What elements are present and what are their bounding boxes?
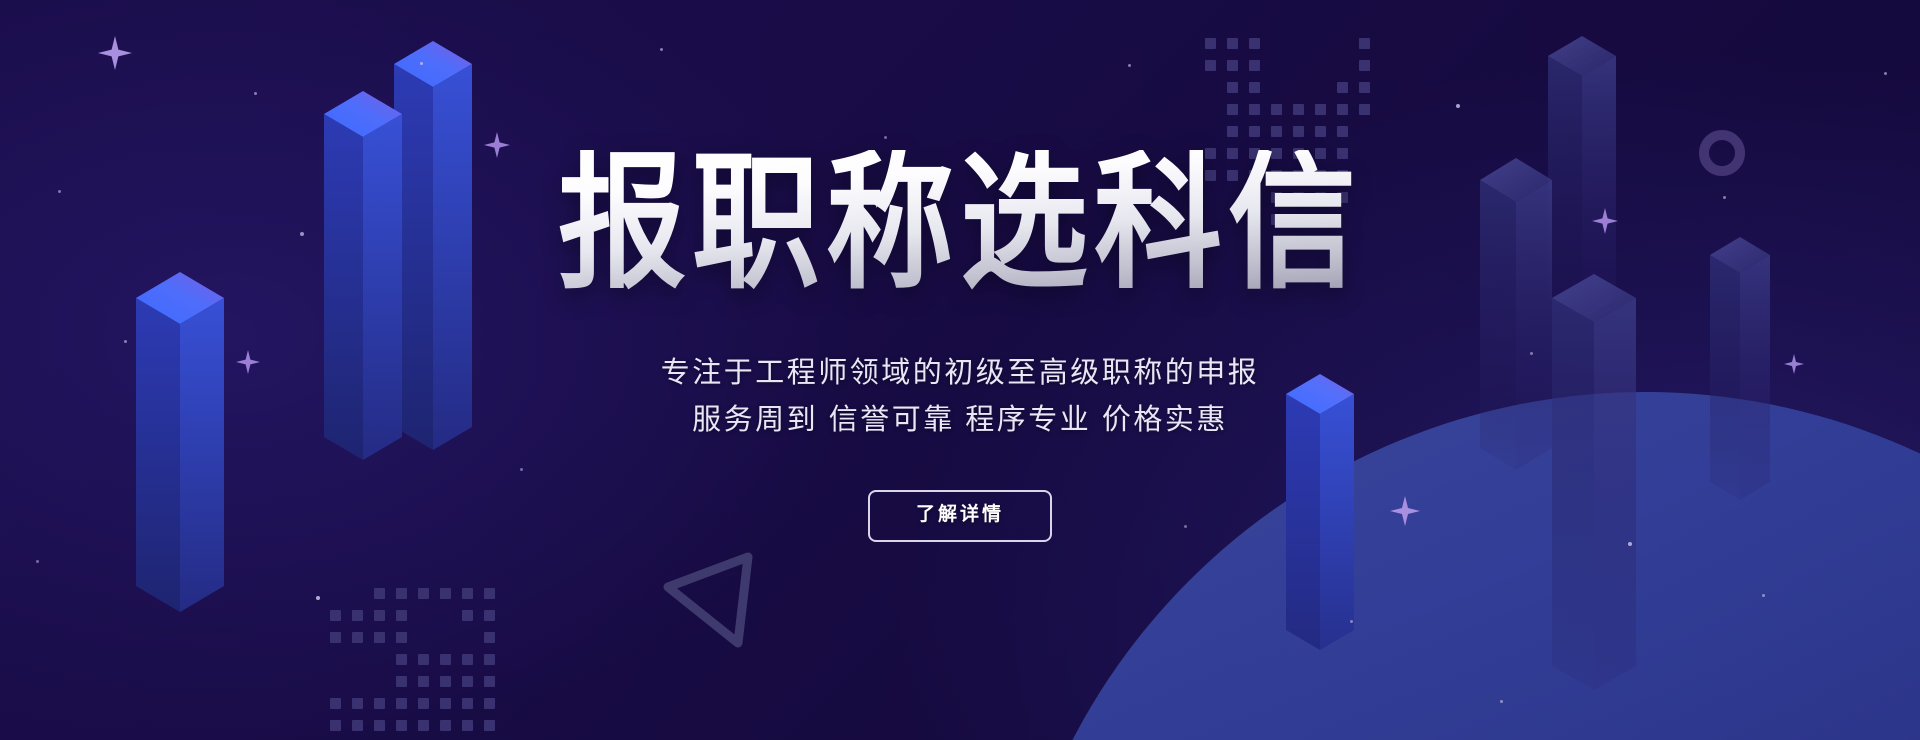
star-dot bbox=[1762, 594, 1765, 597]
star-dot bbox=[316, 596, 320, 600]
star-dot bbox=[1350, 620, 1353, 623]
banner-subtitle: 专注于工程师领域的初级至高级职称的申报 服务周到 信誉可靠 程序专业 价格实惠 bbox=[0, 350, 1920, 444]
triangle-outline bbox=[660, 545, 770, 655]
star-dot bbox=[1530, 352, 1533, 355]
subtitle-line-2: 服务周到 信誉可靠 程序专业 价格实惠 bbox=[0, 397, 1920, 444]
learn-more-button[interactable]: 了解详情 bbox=[868, 490, 1052, 542]
banner-content: 报职称选科信 专注于工程师领域的初级至高级职称的申报 服务周到 信誉可靠 程序专… bbox=[0, 0, 1920, 542]
page-title: 报职称选科信 bbox=[0, 150, 1920, 298]
star-dot bbox=[1628, 542, 1632, 546]
cta-container: 了解详情 bbox=[0, 490, 1920, 542]
star-dot bbox=[36, 560, 39, 563]
star-dot bbox=[1500, 700, 1503, 703]
star-planet-icon bbox=[1390, 496, 1420, 526]
star-dot bbox=[884, 136, 887, 139]
star-right-far-icon bbox=[1784, 354, 1804, 374]
subtitle-line-1: 专注于工程师领域的初级至高级职称的申报 bbox=[0, 350, 1920, 397]
hero-banner: 报职称选科信 专注于工程师领域的初级至高级职称的申报 服务周到 信誉可靠 程序专… bbox=[0, 0, 1920, 740]
